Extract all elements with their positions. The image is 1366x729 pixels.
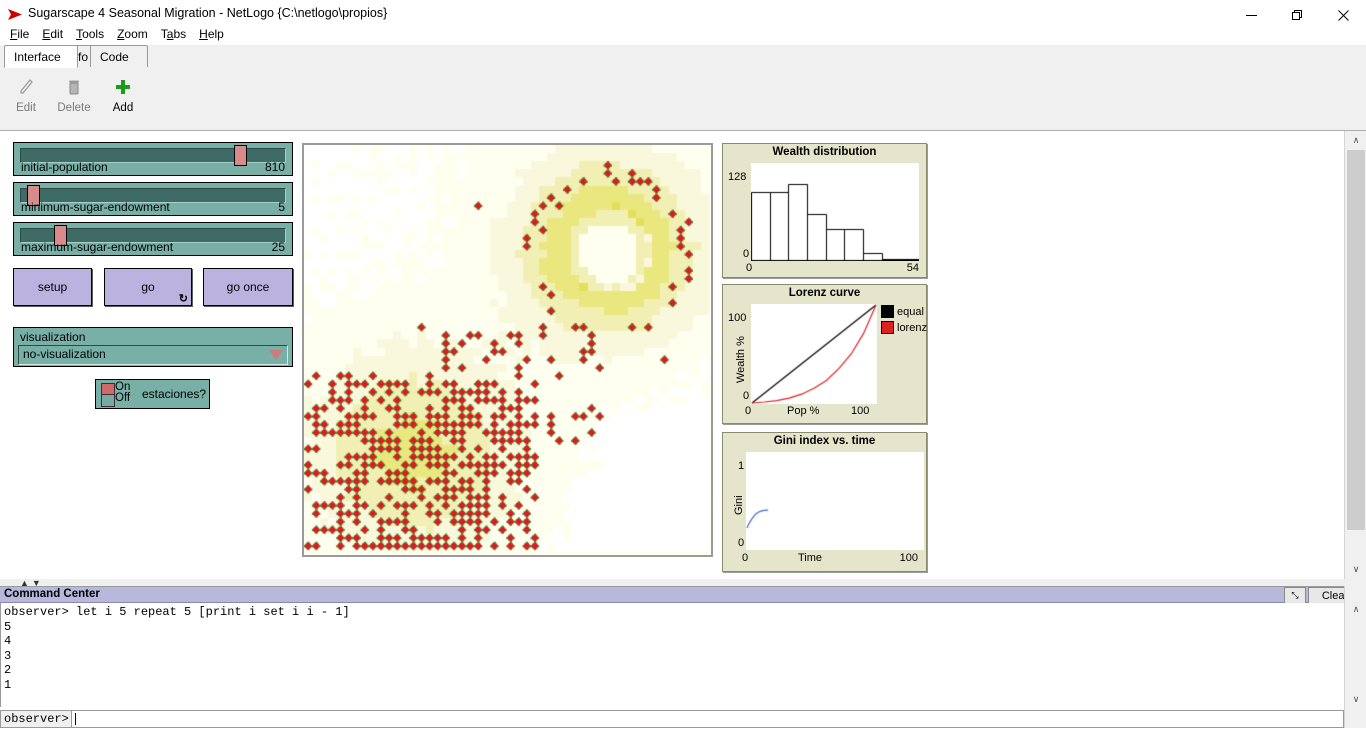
interface-canvas: initial-population 810 minimum-sugar-end… [0, 131, 1344, 579]
plot-x-min-tick: 0 [746, 262, 752, 274]
plot-y-min-tick: 0 [738, 537, 744, 549]
slider-label: minimum-sugar-endowment [21, 200, 170, 214]
add-widget-label: Add [113, 102, 133, 114]
command-center-header: Command Center ⤡ Clear [0, 587, 1366, 603]
slider-label: initial-population [21, 160, 108, 174]
close-button[interactable] [1320, 0, 1366, 30]
command-center-vertical-scrollbar[interactable]: ∧ ∨ [1344, 586, 1366, 728]
command-center-output[interactable]: observer> let i 5 repeat 5 [print i set … [0, 603, 1344, 707]
chooser-label: visualization [20, 330, 85, 344]
command-center-title: Command Center [4, 588, 100, 600]
command-center-prompt-row: observer> [0, 710, 1344, 728]
netlogo-arrow-icon [6, 6, 24, 24]
scroll-up-icon[interactable]: ∧ [1345, 131, 1366, 150]
trash-icon [64, 73, 84, 101]
plot-x-max-tick: 100 [900, 552, 918, 564]
plot-y-max-tick: 1 [738, 460, 744, 472]
slider-thumb[interactable] [234, 145, 247, 166]
plot-y-min-tick: 0 [743, 390, 749, 402]
scroll-up-icon[interactable]: ∧ [1345, 600, 1366, 619]
setup-button-label: setup [38, 280, 67, 294]
slider-value: 5 [278, 200, 285, 214]
go-button-label: go [141, 280, 154, 294]
plot-title: Wealth distribution [723, 146, 926, 158]
tab-strip: Interface Info Code [0, 45, 1366, 68]
chooser-visualization[interactable]: visualization no-visualization [13, 327, 293, 367]
delete-widget-button[interactable]: Delete [50, 73, 98, 123]
menu-tools[interactable]: Tools [70, 25, 111, 43]
go-button[interactable]: go ↻ [104, 268, 192, 306]
chevron-down-icon [269, 350, 283, 360]
edit-widget-button[interactable]: Edit [2, 73, 50, 123]
plot-wealth-distribution[interactable]: Wealth distribution 128 0 0 54 [722, 143, 927, 278]
slider-initial-population[interactable]: initial-population 810 [13, 142, 293, 176]
menu-bar: File Edit Tools Zoom Tabs Help [0, 24, 231, 44]
legend-label: lorenz [897, 322, 927, 334]
expand-icon[interactable]: ⤡ [1284, 587, 1306, 604]
scroll-down-icon[interactable]: ∨ [1345, 690, 1366, 709]
slider-minimum-sugar-endowment[interactable]: minimum-sugar-endowment 5 [13, 182, 293, 216]
switch-estaciones[interactable]: On Off estaciones? [95, 379, 210, 409]
slider-label: maximum-sugar-endowment [21, 240, 173, 254]
switch-label: estaciones? [142, 387, 206, 401]
plot-canvas [746, 452, 924, 550]
add-widget-button[interactable]: Add [99, 73, 147, 123]
plot-x-max-tick: 100 [851, 405, 869, 417]
command-center-input[interactable] [72, 710, 1344, 728]
interface-vertical-scrollbar[interactable]: ∧ ∨ [1344, 131, 1366, 579]
plot-y-axis-label: Wealth % [735, 336, 747, 383]
window-title: Sugarscape 4 Seasonal Migration - NetLog… [28, 6, 387, 20]
edit-widget-label: Edit [16, 102, 36, 114]
menu-file[interactable]: File [4, 25, 36, 43]
plus-icon [113, 73, 133, 101]
switch-off-label: Off [115, 392, 130, 404]
go-once-button-label: go once [227, 280, 270, 294]
slider-value: 25 [272, 240, 285, 254]
plot-x-min-tick: 0 [745, 405, 751, 417]
text-caret [75, 713, 76, 725]
scroll-down-icon[interactable]: ∨ [1345, 560, 1366, 579]
plot-title: Lorenz curve [723, 287, 926, 299]
forever-icon: ↻ [179, 292, 188, 305]
switch-knob[interactable] [101, 383, 115, 395]
legend-label: equal [897, 306, 924, 318]
minimize-button[interactable] [1228, 0, 1274, 30]
plot-y-min-tick: 0 [743, 248, 749, 260]
legend-item-lorenz[interactable]: lorenz [881, 321, 927, 334]
command-center: Command Center ⤡ Clear observer> let i 5… [0, 586, 1366, 729]
pencil-icon [16, 73, 36, 101]
plot-lorenz-curve[interactable]: Lorenz curve 100 0 0 Pop % 100 Wealth % … [722, 284, 927, 424]
plot-y-max-tick: 128 [728, 171, 746, 183]
legend-item-equal[interactable]: equal [881, 305, 924, 318]
tab-code-label: Code [100, 50, 129, 64]
menu-edit[interactable]: Edit [36, 25, 70, 43]
chooser-box[interactable]: no-visualization [18, 345, 288, 365]
legend-swatch [881, 305, 894, 318]
slider-maximum-sugar-endowment[interactable]: maximum-sugar-endowment 25 [13, 222, 293, 256]
plot-x-axis-label: Time [798, 552, 822, 564]
netlogo-window: Sugarscape 4 Seasonal Migration - NetLog… [0, 0, 1366, 728]
plot-x-axis-label: Pop % [787, 405, 819, 417]
slider-value: 810 [265, 160, 285, 174]
plot-x-min-tick: 0 [742, 552, 748, 564]
command-center-prompt-label: observer> [0, 710, 72, 728]
go-once-button[interactable]: go once [203, 268, 293, 306]
plot-y-max-tick: 100 [728, 312, 746, 324]
window-controls [1228, 0, 1366, 30]
plot-canvas [751, 163, 919, 261]
interface-toolbar: Edit Delete Add abc B [0, 67, 1366, 131]
restore-button[interactable] [1274, 0, 1320, 30]
menu-tabs[interactable]: Tabs [155, 25, 193, 43]
scrollbar-thumb[interactable] [1347, 150, 1365, 530]
plot-gini-index[interactable]: Gini index vs. time 1 0 0 Time 100 Gini [722, 432, 927, 572]
delete-widget-label: Delete [57, 102, 90, 114]
legend-swatch [881, 321, 894, 334]
world-view[interactable] [302, 143, 713, 557]
tab-interface-label: Interface [14, 50, 61, 64]
plot-canvas [751, 304, 877, 404]
plot-title: Gini index vs. time [723, 435, 926, 447]
menu-zoom[interactable]: Zoom [111, 25, 155, 43]
plot-x-max-tick: 54 [907, 262, 919, 274]
setup-button[interactable]: setup [13, 268, 92, 306]
tab-interface[interactable]: Interface [4, 45, 78, 68]
world-view-canvas[interactable] [304, 145, 709, 553]
chooser-value: no-visualization [23, 347, 106, 361]
tab-code[interactable]: Code [90, 45, 148, 67]
menu-help[interactable]: Help [193, 25, 231, 43]
plot-y-axis-label: Gini [733, 495, 745, 515]
